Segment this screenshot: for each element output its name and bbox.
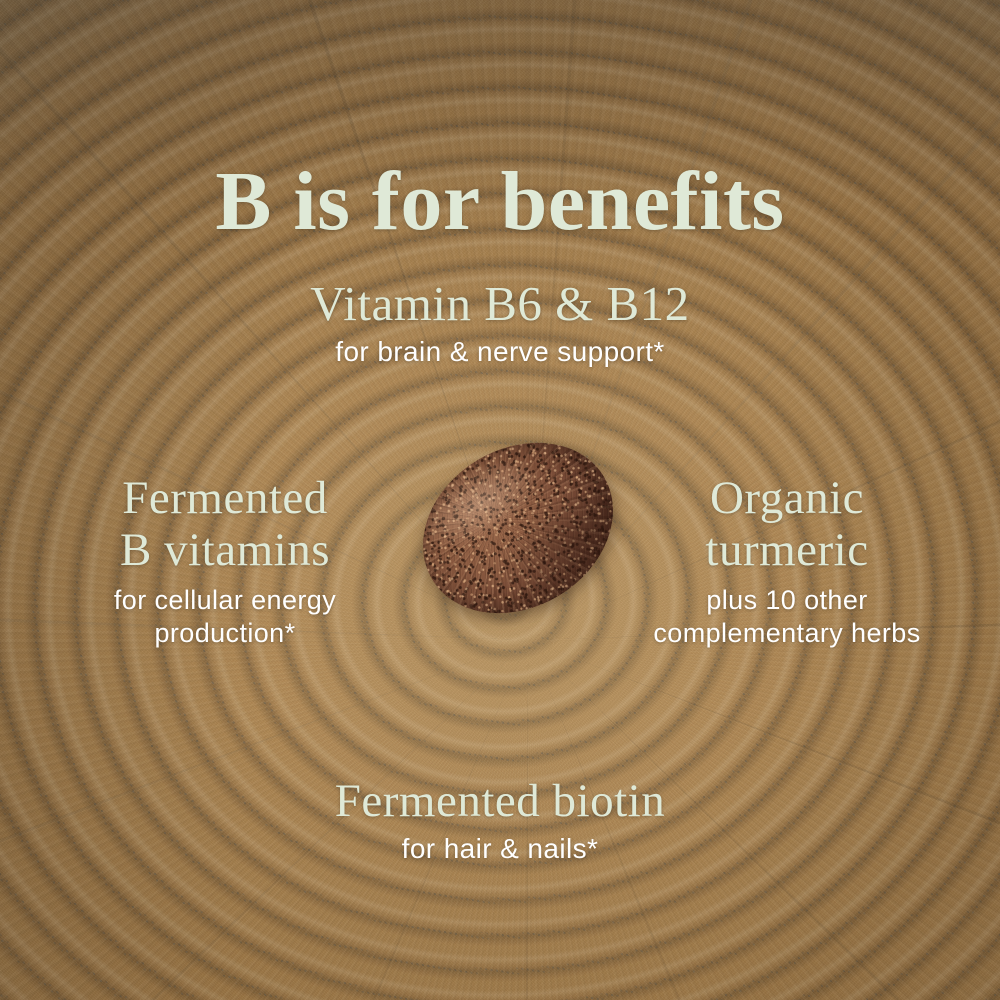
benefit-title: Organic turmeric <box>602 473 972 576</box>
benefit-title: Fermented biotin <box>0 776 1000 828</box>
benefit-block-vitamin-b6-b12: Vitamin B6 & B12 for brain & nerve suppo… <box>0 277 1000 369</box>
benefit-subtitle: plus 10 other complementary herbs <box>602 584 972 650</box>
promo-graphic: B is for benefits Vitamin B6 & B12 for b… <box>0 0 1000 1000</box>
benefit-subtitle: for brain & nerve support* <box>0 335 1000 369</box>
benefit-block-fermented-biotin: Fermented biotin for hair & nails* <box>0 776 1000 866</box>
benefit-subtitle: for hair & nails* <box>0 832 1000 866</box>
benefit-subtitle: for cellular energy production* <box>40 584 410 650</box>
benefit-block-organic-turmeric: Organic turmeric plus 10 other complemen… <box>602 473 972 650</box>
text-overlay: B is for benefits Vitamin B6 & B12 for b… <box>0 0 1000 1000</box>
benefit-title: Fermented B vitamins <box>40 473 410 576</box>
benefit-title: Vitamin B6 & B12 <box>0 277 1000 331</box>
page-title: B is for benefits <box>0 160 1000 244</box>
benefit-block-fermented-b-vitamins: Fermented B vitamins for cellular energy… <box>40 473 410 650</box>
